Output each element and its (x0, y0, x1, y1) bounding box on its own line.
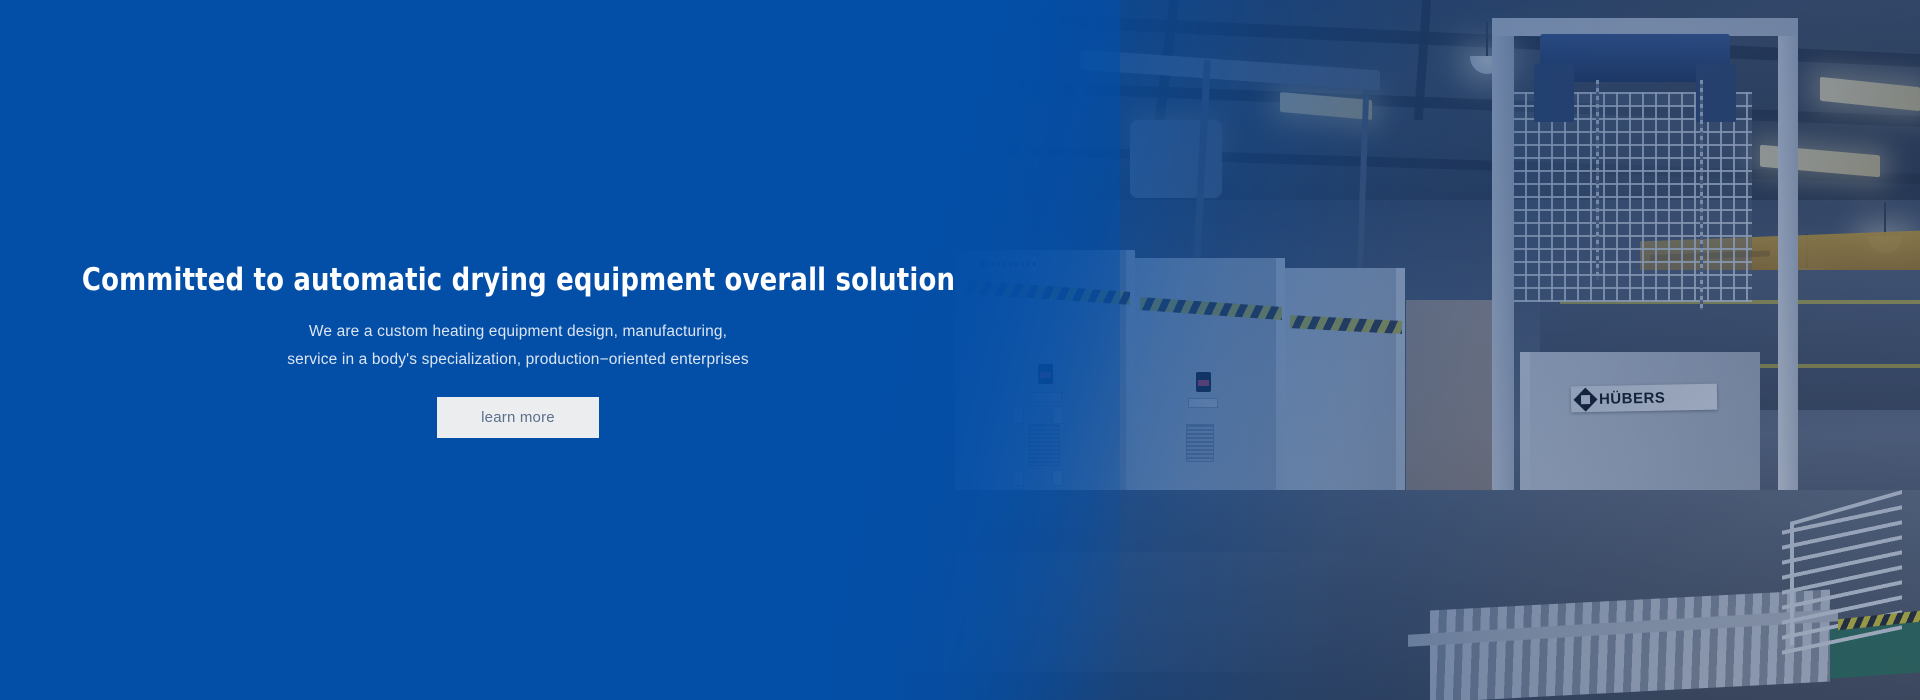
hero-subtitle-line-2: service in a body's specialization, prod… (287, 352, 748, 368)
hero-subtitle-line-1: We are a custom heating equipment design… (309, 324, 727, 340)
hero-content: Committed to automatic drying equipment … (0, 0, 1000, 700)
hero-headline: Committed to automatic drying equipment … (81, 262, 954, 298)
hero-banner: HÜBERS Committed to automatic drying equ… (0, 0, 1920, 700)
learn-more-button[interactable]: learn more (437, 397, 599, 438)
